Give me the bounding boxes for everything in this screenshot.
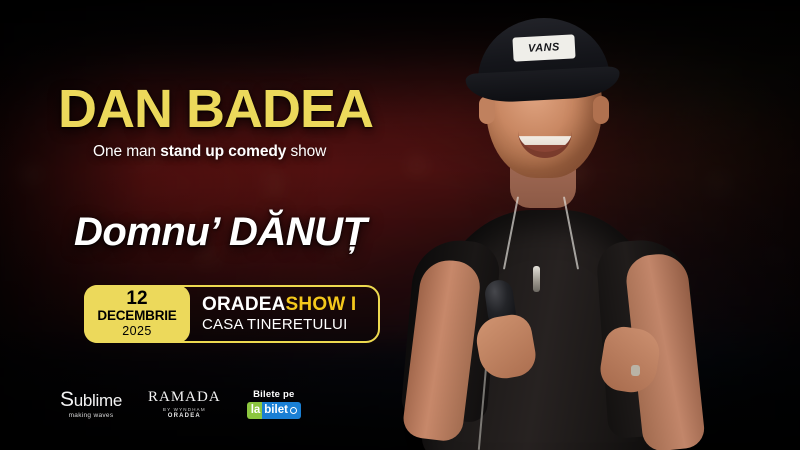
performer-photo: VANS: [382, 0, 712, 450]
event-poster: VANS DAN BADEA One man stand up comedy s…: [0, 0, 800, 450]
sublime-initial: S: [60, 388, 74, 411]
ramada-by-wyndham: BY WYNDHAM: [163, 407, 206, 412]
event-date-month: DECEMBRIE: [97, 308, 176, 324]
event-venue-block: ORADEASHOW I CASA TINERETULUI: [190, 287, 378, 341]
sublime-wordmark: Sublime: [60, 389, 122, 410]
labilet-part-la: la: [247, 402, 263, 420]
show-title: Domnu’ DĂNUȚ: [74, 210, 366, 255]
event-city-show-line: ORADEASHOW I: [202, 294, 378, 315]
sponsor-sublime-logo: Sublime making waves: [60, 389, 122, 419]
event-city: ORADEA: [202, 294, 286, 315]
artist-name-headline: DAN BADEA: [58, 82, 373, 136]
labilet-bilet-text: bilet: [264, 405, 288, 417]
vans-logo-patch: VANS: [512, 34, 575, 61]
cap-brand-label: VANS: [528, 41, 560, 55]
tickets-caption: Bilete pe: [253, 389, 294, 400]
ramada-location: ORADEA: [168, 413, 201, 419]
sponsor-labilet-logo[interactable]: Bilete pe la bilet: [247, 389, 301, 420]
show-tagline: One man stand up comedy show: [93, 143, 326, 161]
labilet-dot-icon: [290, 407, 297, 414]
event-date-box: 12 DECEMBRIE 2025: [84, 285, 190, 343]
performer-ear-right: [593, 96, 609, 124]
event-date-year: 2025: [122, 324, 151, 339]
event-show-number: SHOW I: [286, 294, 357, 315]
tagline-emphasis: stand up comedy: [160, 143, 286, 160]
event-date-day: 12: [126, 289, 147, 308]
poster-content: DAN BADEA One man stand up comedy show D…: [0, 0, 420, 450]
event-venue-name: CASA TINERETULUI: [202, 316, 378, 334]
labilet-wordmark[interactable]: la bilet: [247, 402, 301, 420]
ramada-wordmark: RAMADA: [148, 390, 221, 405]
tagline-suffix: show: [286, 143, 326, 160]
sublime-tagline: making waves: [69, 412, 114, 419]
tagline-prefix: One man: [93, 143, 160, 160]
sponsor-ramada-logo: RAMADA BY WYNDHAM ORADEA: [148, 390, 221, 419]
event-info-bar: 12 DECEMBRIE 2025 ORADEASHOW I CASA TINE…: [84, 285, 380, 343]
performer-ring: [631, 365, 640, 376]
sublime-rest: ublime: [74, 391, 122, 410]
sponsor-logos: Sublime making waves RAMADA BY WYNDHAM O…: [60, 383, 380, 425]
labilet-part-bilet: bilet: [262, 402, 301, 420]
necklace-pendant: [533, 266, 540, 292]
